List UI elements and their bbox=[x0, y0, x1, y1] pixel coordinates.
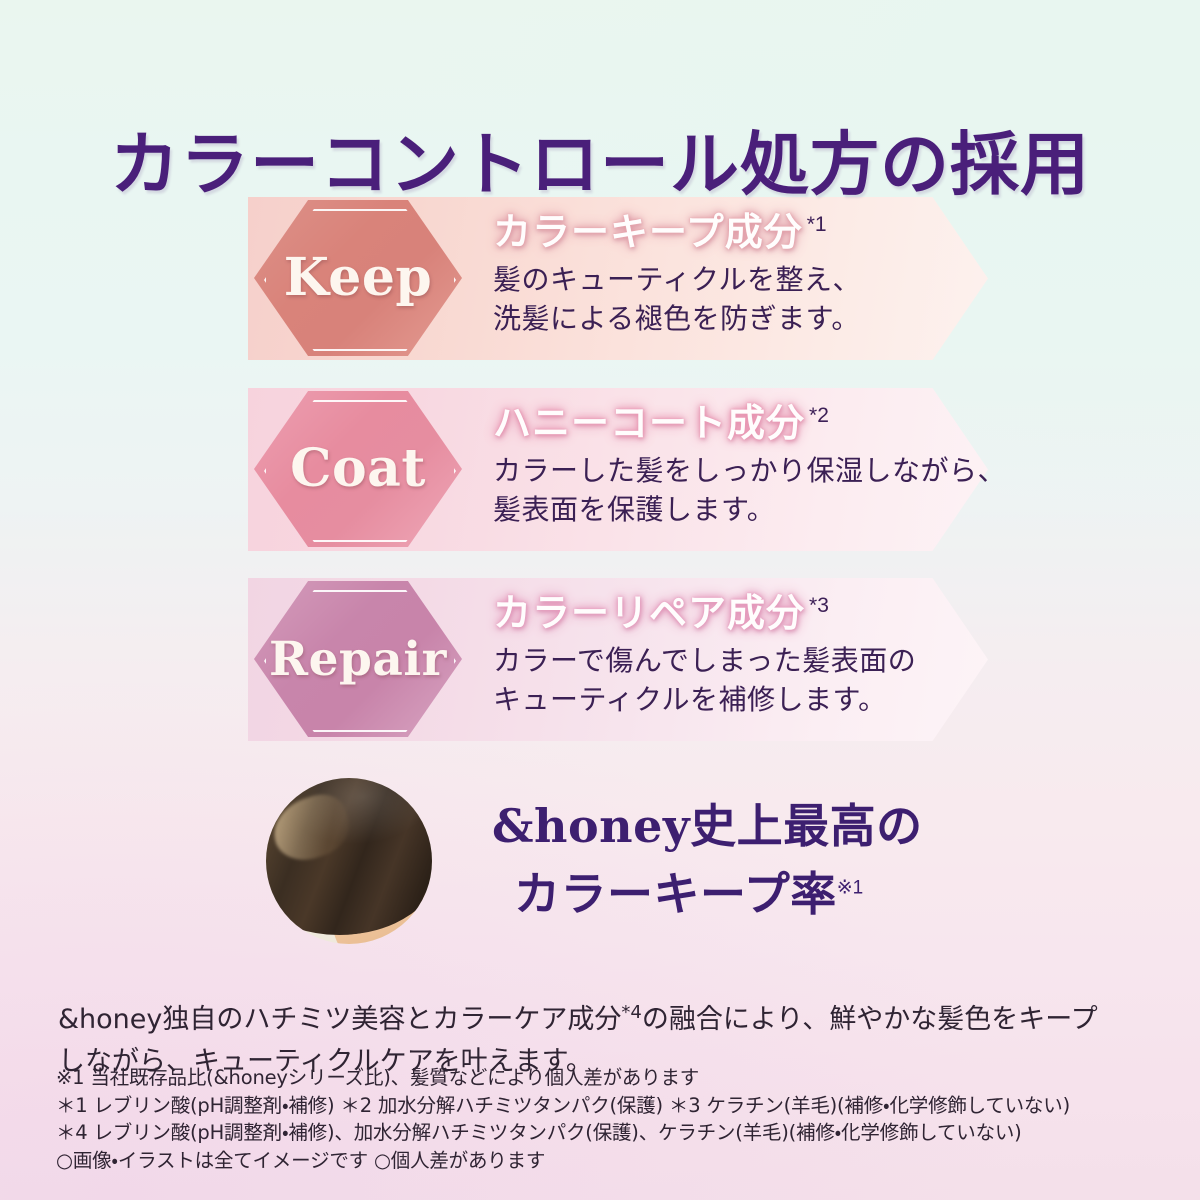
footnote-line: ○画像・イラストは全てイメージです ○個人差があります bbox=[56, 1147, 1166, 1175]
banner-heading-text: カラーキープ成分 bbox=[493, 209, 803, 254]
banner-heading-footnote-marker: *2 bbox=[809, 404, 829, 427]
claim-heading: &honey史上最高の カラーキープ率※1 bbox=[492, 792, 923, 928]
banner-heading: カラーキープ成分*1 bbox=[493, 211, 963, 254]
banner-body: カラーで傷んでしまった髪表面の キューティクルを補修します。 bbox=[493, 641, 963, 721]
banner-heading-footnote-marker: *1 bbox=[807, 213, 827, 236]
badge-label: Coat bbox=[290, 443, 426, 495]
claim-line-2: カラーキープ率※1 bbox=[514, 860, 923, 928]
banner-heading: カラーリペア成分*3 bbox=[493, 592, 963, 635]
banner-body: カラーした髪をしっかり保湿しながら、 髪表面を保護します。 bbox=[493, 451, 963, 531]
feature-banner-coat: Coat ハニーコート成分*2 カラーした髪をしっかり保湿しながら、 髪表面を保… bbox=[248, 388, 988, 551]
footnote-line: ＊4 レブリン酸(pH調整剤・補修)、加水分解ハチミツタンパク(保護)、ケラチン… bbox=[56, 1119, 1166, 1147]
banner-body: 髪のキューティクルを整え、 洗髪による褪色を防ぎます。 bbox=[493, 260, 963, 340]
banner-heading-footnote-marker: *3 bbox=[809, 594, 829, 617]
banner-body-line-2: 洗髪による褪色を防ぎます。 bbox=[493, 299, 963, 339]
banner-body-line-1: カラーで傷んでしまった髪表面の bbox=[493, 641, 963, 681]
page-title: カラーコントロール処方の採用 bbox=[0, 108, 1200, 208]
banner-heading-text: カラーリペア成分 bbox=[493, 590, 805, 635]
claim-footnote-marker: ※1 bbox=[837, 878, 864, 899]
claim-line-1: &honey史上最高の bbox=[492, 799, 923, 853]
banner-heading-text: ハニーコート成分 bbox=[493, 400, 805, 445]
banner-body-line-1: カラーした髪をしっかり保湿しながら、 bbox=[493, 451, 963, 491]
banner-text: カラーリペア成分*3 カラーで傷んでしまった髪表面の キューティクルを補修します… bbox=[493, 592, 963, 720]
banner-text: ハニーコート成分*2 カラーした髪をしっかり保湿しながら、 髪表面を保護します。 bbox=[493, 402, 963, 530]
banner-body-line-2: キューティクルを補修します。 bbox=[493, 680, 963, 720]
footnote-line: ＊1 レブリン酸(pH調整剤・補修) ＊2 加水分解ハチミツタンパク(保護) ＊… bbox=[56, 1092, 1166, 1120]
feature-banner-repair: Repair カラーリペア成分*3 カラーで傷んでしまった髪表面の キューティク… bbox=[248, 578, 988, 741]
banner-body-line-1: 髪のキューティクルを整え、 bbox=[493, 260, 963, 300]
lead-part-2: の融合により、鮮やかな髪色をキープ bbox=[642, 1004, 1098, 1035]
banner-heading: ハニーコート成分*2 bbox=[493, 402, 963, 445]
hair-photo bbox=[266, 778, 432, 944]
badge-label: Repair bbox=[269, 636, 447, 683]
claim-line-2-text: カラーキープ率 bbox=[514, 867, 837, 921]
banner-body-line-2: 髪表面を保護します。 bbox=[493, 490, 963, 530]
lead-footnote-marker: *4 bbox=[621, 1002, 641, 1023]
feature-banner-keep: Keep カラーキープ成分*1 髪のキューティクルを整え、 洗髪による褪色を防ぎ… bbox=[248, 197, 988, 360]
lead-part-1: &honey独自のハチミツ美容とカラーケア成分 bbox=[58, 1004, 621, 1035]
footnote-line: ※1 当社既存品比(&honeyシリーズ比)、髪質などにより個人差があります bbox=[56, 1064, 1166, 1092]
promo-page: カラーコントロール処方の採用 Keep カラーキープ成分*1 髪のキューティクル… bbox=[0, 0, 1200, 1200]
badge-label: Keep bbox=[284, 252, 433, 304]
banner-text: カラーキープ成分*1 髪のキューティクルを整え、 洗髪による褪色を防ぎます。 bbox=[493, 211, 963, 339]
footnotes: ※1 当社既存品比(&honeyシリーズ比)、髪質などにより個人差があります ＊… bbox=[56, 1064, 1166, 1175]
